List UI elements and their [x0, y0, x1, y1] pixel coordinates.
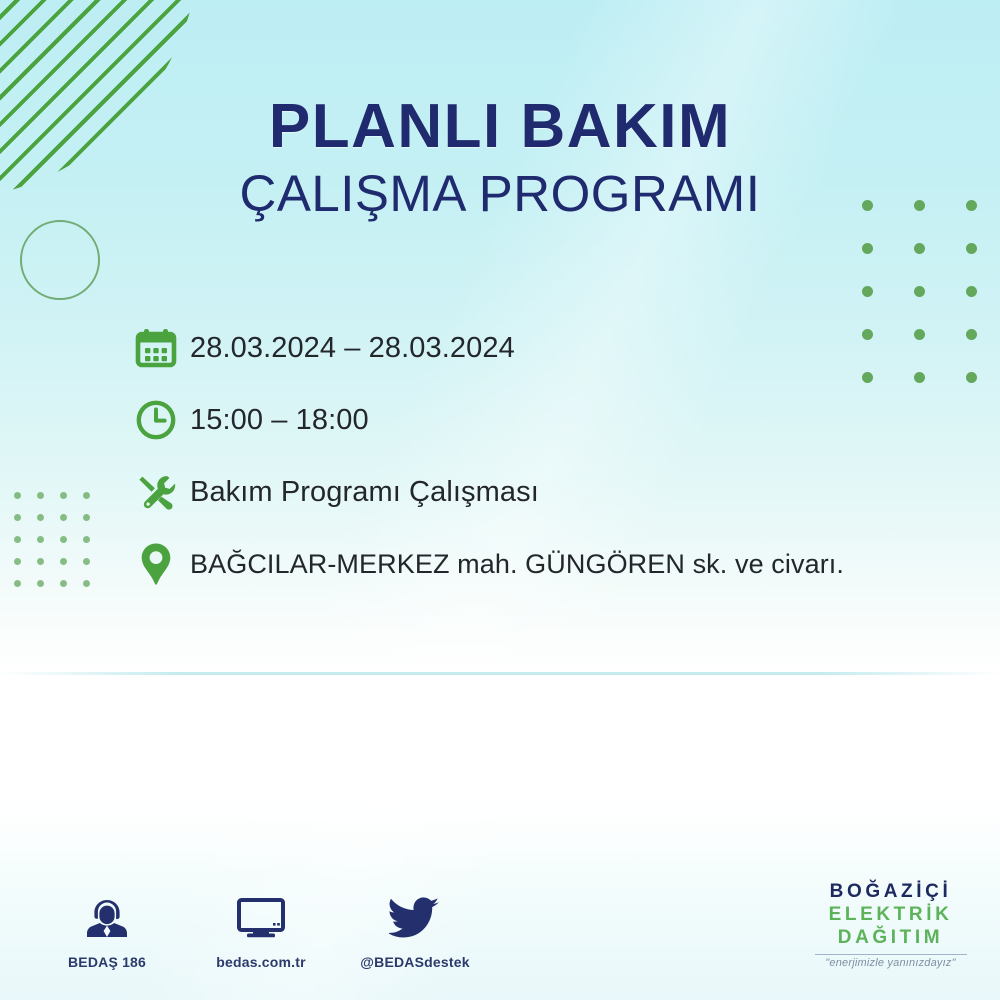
outage-details-list: 28.03.2024 – 28.03.2024 15:00 – 18:00	[134, 312, 964, 600]
contact-website[interactable]: bedas.com.tr	[202, 890, 320, 970]
clock-icon	[134, 398, 190, 442]
detail-row-date-label: 28.03.2024 – 28.03.2024	[190, 332, 515, 365]
planned-maintenance-poster: PLANLI BAKIM ÇALIŞMA PROGRAMI	[0, 0, 1000, 1000]
detail-row-work-type-label: Bakım Programı Çalışması	[190, 476, 539, 509]
detail-row-time: 15:00 – 18:00	[134, 384, 964, 456]
support-agent-icon	[48, 890, 166, 946]
twitter-bird-icon	[356, 890, 474, 946]
contact-twitter[interactable]: @BEDASdestek	[356, 890, 474, 970]
contact-phone-label: BEDAŞ 186	[48, 954, 166, 970]
detail-row-date: 28.03.2024 – 28.03.2024	[134, 312, 964, 384]
contact-website-label: bedas.com.tr	[202, 954, 320, 970]
company-logo: BOĞAZİÇİ ELEKTRİK DAĞITIM "enerjimizle y…	[803, 880, 978, 969]
background-lower-wash	[0, 676, 1000, 876]
detail-row-location-label: BAĞCILAR-MERKEZ mah. GÜNGÖREN sk. ve civ…	[190, 549, 844, 580]
logo-line-bogazici: BOĞAZİÇİ	[803, 880, 978, 903]
dot-grid-left-decoration	[14, 492, 106, 602]
contact-phone[interactable]: BEDAŞ 186	[48, 890, 166, 970]
logo-line-dagitim: DAĞITIM	[803, 926, 978, 949]
logo-slogan: "enerjimizle yanınızdayız"	[803, 957, 978, 969]
circle-outline-decoration	[20, 220, 100, 300]
logo-divider	[815, 954, 967, 955]
detail-row-time-label: 15:00 – 18:00	[190, 404, 369, 437]
contact-twitter-label: @BEDASdestek	[356, 954, 474, 970]
detail-row-work-type: Bakım Programı Çalışması	[134, 456, 964, 528]
detail-row-location: BAĞCILAR-MERKEZ mah. GÜNGÖREN sk. ve civ…	[134, 528, 964, 600]
background-divider-band	[0, 672, 1000, 675]
map-pin-icon	[134, 541, 190, 587]
logo-line-elektrik: ELEKTRİK	[803, 903, 978, 926]
monitor-icon	[202, 890, 320, 946]
title-line-primary: PLANLI BAKIM	[0, 96, 1000, 158]
page-title: PLANLI BAKIM ÇALIŞMA PROGRAMI	[0, 96, 1000, 219]
footer-contacts: BEDAŞ 186 bedas.com.tr @BEDASdestek	[48, 890, 474, 970]
tools-icon	[134, 470, 190, 514]
calendar-icon	[134, 326, 190, 370]
title-line-secondary: ÇALIŞMA PROGRAMI	[0, 168, 1000, 219]
